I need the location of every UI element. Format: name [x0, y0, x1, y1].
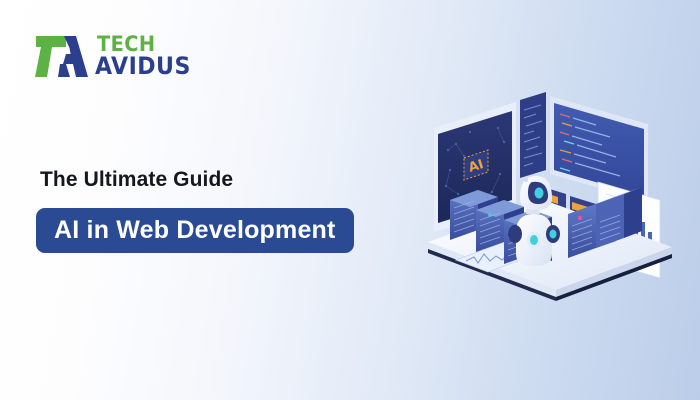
techavidus-logo[interactable]: TECH AVIDUS — [32, 30, 199, 82]
hero-eyebrow: The Ultimate Guide — [40, 168, 233, 192]
hero-title-badge: AI in Web Development — [36, 208, 354, 253]
isometric-ai-datacenter-icon: AI — [420, 82, 684, 314]
logo-mark-icon — [32, 30, 88, 82]
logo-wordmark: TECH AVIDUS — [95, 35, 199, 77]
hero-illustration: AI — [420, 82, 684, 314]
banner: TECH AVIDUS The Ultimate Guide AI in Web… — [0, 0, 700, 400]
screen-code-narrow — [520, 92, 546, 178]
hero-title: AI in Web Development — [54, 216, 336, 245]
logo-text-avidus: AVIDUS — [95, 55, 191, 77]
